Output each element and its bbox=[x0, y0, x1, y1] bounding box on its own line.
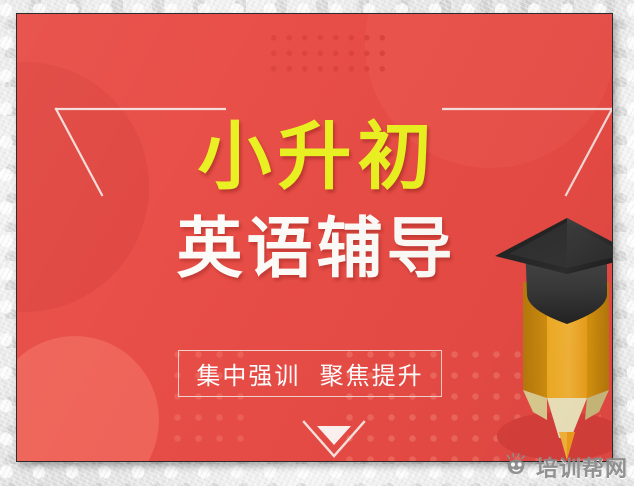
smiley-sun-svg bbox=[505, 453, 530, 477]
chevron-down-svg bbox=[300, 418, 368, 462]
pencil-with-graduation-cap-icon bbox=[489, 212, 613, 462]
poster-title-main: 小升初 bbox=[17, 120, 612, 194]
watermark: 培训帮网 bbox=[505, 451, 628, 483]
poster-canvas: 小升初 英语辅导 集中强训 聚焦提升 bbox=[0, 0, 634, 486]
chevron-down-icon[interactable] bbox=[300, 418, 368, 462]
decor-circle-left-bottom bbox=[16, 336, 159, 462]
poster-card: 小升初 英语辅导 集中强训 聚焦提升 bbox=[16, 13, 613, 462]
smiley-sun-icon bbox=[505, 453, 530, 481]
tagline-box: 集中强训 聚焦提升 bbox=[178, 350, 442, 397]
tagline-text: 集中强训 聚焦提升 bbox=[196, 356, 423, 391]
watermark-text: 培训帮网 bbox=[536, 451, 628, 483]
pencil-cap-svg bbox=[489, 212, 613, 462]
